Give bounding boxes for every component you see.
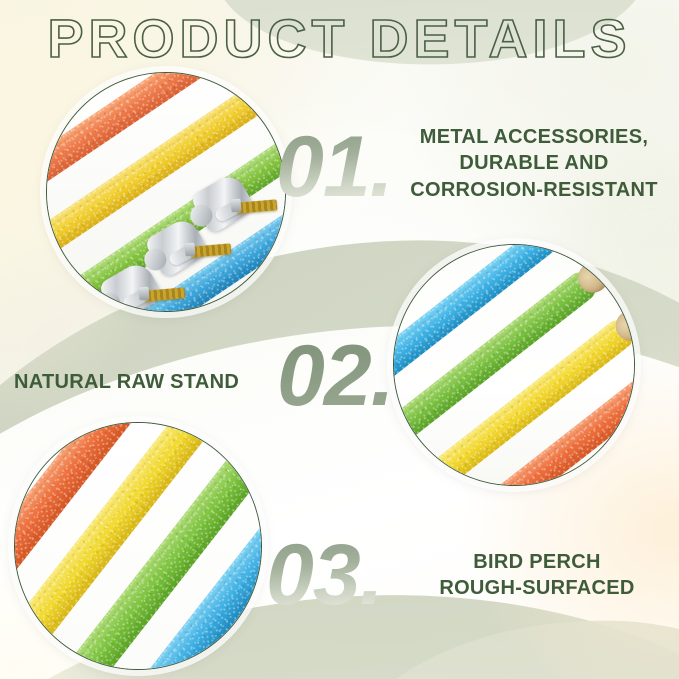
caption-line: METAL ACCESSORIES, bbox=[398, 124, 670, 150]
feature-photo-3 bbox=[14, 422, 262, 670]
perch-rods-group bbox=[14, 422, 262, 670]
caption-line: CORROSION-RESISTANT bbox=[398, 177, 670, 203]
perch-rods-group bbox=[46, 72, 286, 312]
feature-caption-1: METAL ACCESSORIES, DURABLE AND CORROSION… bbox=[398, 124, 670, 203]
feature-caption-3: BIRD PERCH ROUGH-SURFACED bbox=[404, 549, 670, 602]
feature-photo-1 bbox=[46, 72, 286, 312]
feature-number-3: 03. bbox=[266, 532, 383, 618]
perch-rods-group bbox=[393, 244, 635, 486]
caption-line: DURABLE AND bbox=[398, 150, 670, 176]
feature-number-1: 01. bbox=[276, 124, 393, 210]
feature-caption-2: NATURAL RAW STAND bbox=[14, 369, 260, 395]
caption-line: ROUGH-SURFACED bbox=[404, 575, 670, 601]
caption-line: BIRD PERCH bbox=[404, 549, 670, 575]
feature-number-2: 02. bbox=[277, 333, 394, 419]
page-title: PRODUCT DETAILS bbox=[0, 8, 679, 70]
caption-line: NATURAL RAW STAND bbox=[14, 369, 260, 395]
product-details-infographic: PRODUCT DETAILS bbox=[0, 0, 679, 679]
feature-photo-2 bbox=[393, 244, 635, 486]
